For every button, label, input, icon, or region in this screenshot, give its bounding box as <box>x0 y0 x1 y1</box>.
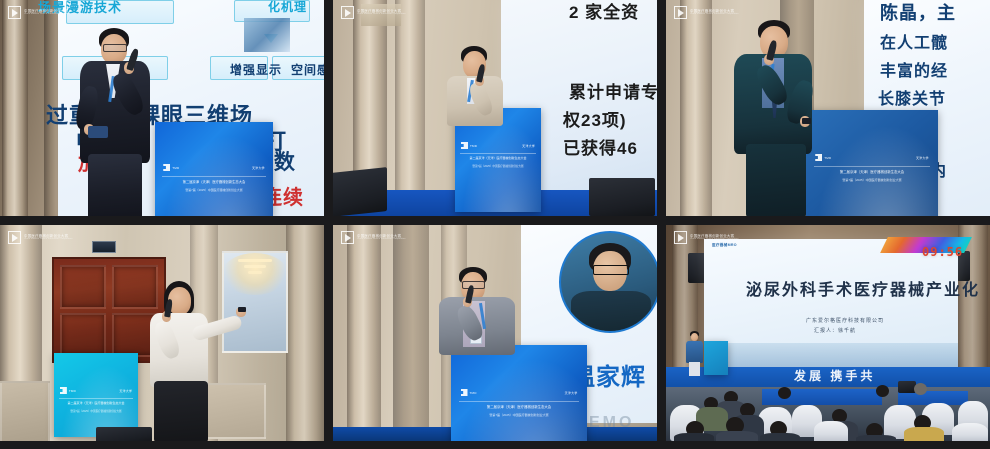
audience-body <box>856 435 896 441</box>
slide-subtitle-line: 汇报人：徐千航 <box>814 329 856 334</box>
podium-line-1: 第二届京津（天津）医疗器械创新生态大会 <box>462 404 576 409</box>
speaker-person <box>730 20 840 216</box>
speaker-horn-logo-icon <box>341 6 354 19</box>
audience-body <box>904 427 944 441</box>
podium: TMD 天津大学 第二届京津（天津）医疗器械创新生态大会 暨第7届（2025）中… <box>155 122 273 216</box>
slide-body-line: 已获得46 <box>563 140 638 158</box>
slide-body-line: 丰富的经 <box>880 64 948 81</box>
slide-heading: 陈晶，主 <box>880 4 956 23</box>
stage-monitor-speaker <box>589 178 655 216</box>
podium: TMD 天津大学 第二届京津（天津）医疗器械创新生态大会 暨第7届（2025）中… <box>54 353 138 437</box>
photo-panel-4[interactable]: TMD 天津大学 第二届京津（天津）医疗器械创新生态大会 暨第7届（2025）中… <box>0 225 324 441</box>
glasses-icon <box>103 44 127 52</box>
speaker-person <box>74 28 164 216</box>
photo-panel-5[interactable]: 温家辉 EMO TMD 天津大学 第二届京津（天津）医疗器械创新生态大会 暨第7… <box>333 225 657 441</box>
podium <box>704 341 728 375</box>
photo-panel-1[interactable]: 场景漫游技术 化机理 增强显示 空间感 过重建的裸眼三维场 中 加 互，打 "向… <box>0 0 324 216</box>
speaker-horn-logo-icon <box>341 231 354 244</box>
tmd-logo-icon <box>461 142 468 149</box>
podium-line-2: 暨第7届（2025）中国医疗器械创新创业大赛 <box>462 413 576 417</box>
audience-chair <box>952 423 988 441</box>
speaker-horn-logo-icon <box>674 231 687 244</box>
audience-head <box>876 385 889 397</box>
speaker-person <box>445 46 509 126</box>
slide-body-line: 在人工髋 <box>880 36 948 53</box>
audience-chair <box>814 421 848 441</box>
slide-card-label: 空间感 <box>291 64 324 77</box>
pilaster-column <box>2 0 28 216</box>
audience-body <box>716 431 758 441</box>
podium-line-1: 第二届京津（天津）医疗器械创新生态大会 <box>462 156 534 160</box>
speaker-horn-logo-icon <box>8 231 21 244</box>
watermark-en-text: China Medical Device Innovation Competit… <box>24 238 72 240</box>
speaker-portrait-photo <box>559 231 657 333</box>
watermark-logo: 中国医疗器械创新创业大赛 China Medical Device Innova… <box>8 231 72 244</box>
presenter-clicker <box>802 118 811 124</box>
slide-body-line: 长膝关节 <box>878 92 946 109</box>
watermark-logo: 中国医疗器械创新创业大赛 China Medical Device Innova… <box>674 231 738 244</box>
photo-grid: 场景漫游技术 化机理 增强显示 空间感 过重建的裸眼三维场 中 加 互，打 "向… <box>0 0 990 449</box>
podium-line-2: 暨第7届（2025）中国医疗器械创新创业大赛 <box>164 188 263 192</box>
watermark-en-text: China Medical Device Innovation Competit… <box>690 13 738 15</box>
tmd-logo-icon <box>163 164 170 171</box>
podium-logo-label: TMD <box>470 391 477 395</box>
watermark-logo: 中国医疗器械创新创业大赛 China Medical Device Innova… <box>674 6 738 19</box>
podium-logo-label: TMD <box>69 389 76 393</box>
watermark-en-text: China Medical Device Innovation Competit… <box>690 238 738 240</box>
exit-sign <box>92 241 116 253</box>
speaker-person <box>146 281 256 441</box>
slide-heading: 化机理 <box>268 1 307 14</box>
photo-panel-2[interactable]: 2 家全资 累计申请专 权23项) 已获得46 TMD 天津大学 第二届京津（天… <box>333 0 657 216</box>
audience-body <box>760 433 800 441</box>
podium-partner-label: 天津大学 <box>119 389 132 393</box>
stage-monitor-speaker <box>96 427 152 441</box>
watermark-logo: 中国医疗器械创新创业大赛 China Medical Device Innova… <box>341 231 405 244</box>
speaker-horn-logo-icon <box>8 6 21 19</box>
skirt <box>154 381 208 441</box>
slide-subtitle-line: 广东爱尔格医疗科技有限公司 <box>806 319 884 324</box>
podium-partner-label: 天津大学 <box>252 166 265 170</box>
podium: TMD 天津大学 第二届京津（天津）医疗器械创新生态大会 暨第7届（2025）中… <box>451 345 587 441</box>
stage-presenter-person <box>684 331 706 377</box>
glasses-icon <box>593 265 629 275</box>
podium-line-1: 第二届京津（天津）医疗器械创新生态大会 <box>61 401 132 405</box>
handheld-device <box>88 126 108 138</box>
slide-heading: 2 家全资 <box>569 4 639 22</box>
photo-panel-3[interactable]: 陈晶，主 在人工髋 丰富的经 长膝关节 部畸形 表国内 医疗成 TMD 天津大学… <box>666 0 990 216</box>
podium-line-2: 暨第7届（2025）中国医疗器械创新创业大赛 <box>61 409 132 413</box>
podium-line-2: 暨第7届（2025）中国医疗器械创新创业大赛 <box>462 164 534 168</box>
speaker-horn-logo-icon <box>674 6 687 19</box>
stage-monitor-speaker <box>333 167 387 216</box>
watermark-logo: 中国医疗器械创新创业大赛 China Medical Device Innova… <box>8 6 72 19</box>
slide-image-thumb <box>244 18 290 52</box>
watermark-en-text: China Medical Device Innovation Competit… <box>24 13 72 15</box>
slide-title: 泌尿外科手术医疗器械产业化 <box>746 283 980 300</box>
podium-partner-label: 天津大学 <box>565 391 578 395</box>
watermark-en-text: China Medical Device Innovation Competit… <box>357 238 405 240</box>
podium-partner-label: 天津大学 <box>916 156 929 160</box>
podium-line-1: 第二届京津（天津）医疗器械创新生态大会 <box>164 179 263 184</box>
audience-head <box>914 383 927 395</box>
slide-body-line: 权23项) <box>563 112 627 130</box>
wall-panel <box>0 381 50 441</box>
podium-logo-label: TMD <box>172 166 179 170</box>
watermark-logo: 中国医疗器械创新创业大赛 China Medical Device Innova… <box>341 6 405 19</box>
tmd-logo-icon <box>461 389 468 396</box>
watermark-en-text: China Medical Device Innovation Competit… <box>357 13 405 15</box>
podium-logo-label: TMD <box>470 144 477 148</box>
podium-partner-label: 天津大学 <box>522 144 535 148</box>
slide-card-label: 增强显示 <box>230 64 282 77</box>
stage-banner-text: 发展 携手共 <box>794 370 875 383</box>
audience-head <box>778 387 791 399</box>
speaker-person <box>437 267 523 355</box>
photo-panel-6[interactable]: 09:56 泌尿外科手术医疗器械产业化 广东爱尔格医疗科技有限公司 汇报人：徐千… <box>666 225 990 441</box>
audience-body <box>674 433 714 441</box>
tmd-logo-icon <box>60 387 67 394</box>
podium-logo-row: TMD 天津大学 <box>163 164 265 171</box>
countdown-timer: 09:56 <box>922 245 963 259</box>
presenter-clicker <box>238 307 246 312</box>
slide-skyline-silhouette <box>704 343 958 367</box>
slide-body-line: 累计申请专 <box>569 84 657 102</box>
